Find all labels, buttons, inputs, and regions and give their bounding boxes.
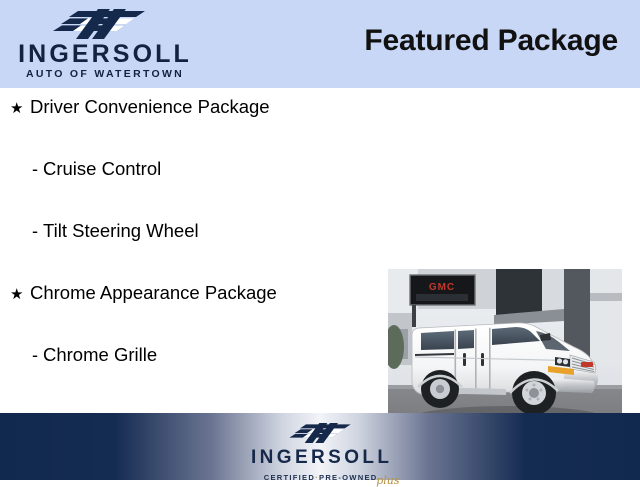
star-bullet-icon: ★ [10, 287, 30, 302]
page-header: INGERSOLL AUTO OF WATERTOWN Featured Pac… [0, 0, 640, 88]
footer-plus-script: plus [375, 475, 400, 486]
list-item: - Chrome Grille [10, 346, 380, 408]
feature-label: Chrome Grille [43, 346, 157, 365]
star-bullet-icon: ★ [10, 101, 30, 116]
page-title: Featured Package [364, 24, 618, 58]
page-footer: INGERSOLL CERTIFIED·PRE-OWNED plus [0, 413, 640, 480]
ingersoll-wing-flag-icon [48, 6, 150, 42]
dash-bullet-icon: - [32, 222, 43, 240]
brand-name: INGERSOLL [0, 42, 210, 67]
svg-text:GMC: GMC [429, 282, 455, 293]
list-item: - Tilt Steering Wheel [10, 222, 380, 284]
feature-label: Driver Convenience Package [30, 98, 270, 117]
ingersoll-wing-flag-icon [283, 421, 357, 445]
list-item: ★ Chrome Appearance Package [10, 284, 380, 346]
footer-logo-block: INGERSOLL CERTIFIED·PRE-OWNED plus [231, 419, 409, 477]
dash-bullet-icon: - [32, 160, 43, 178]
feature-label: Cruise Control [43, 160, 161, 179]
footer-brand-name: INGERSOLL [231, 448, 409, 467]
list-item: ★ Driver Convenience Package [10, 98, 380, 160]
footer-tagline-certified: CERTIFIED [264, 473, 315, 482]
brand-logo-block: INGERSOLL AUTO OF WATERTOWN [0, 2, 210, 86]
feature-label: Tilt Steering Wheel [43, 222, 199, 241]
brand-subtitle: AUTO OF WATERTOWN [0, 69, 210, 80]
footer-tagline: CERTIFIED·PRE-OWNED plus [262, 474, 377, 482]
feature-list: ★ Driver Convenience Package - Cruise Co… [10, 98, 380, 408]
dash-bullet-icon: - [32, 346, 43, 364]
main-content: ★ Driver Convenience Package - Cruise Co… [0, 88, 640, 404]
list-item: - Cruise Control [10, 160, 380, 222]
feature-label: Chrome Appearance Package [30, 284, 277, 303]
footer-tagline-preowned: PRE-OWNED [319, 473, 378, 482]
